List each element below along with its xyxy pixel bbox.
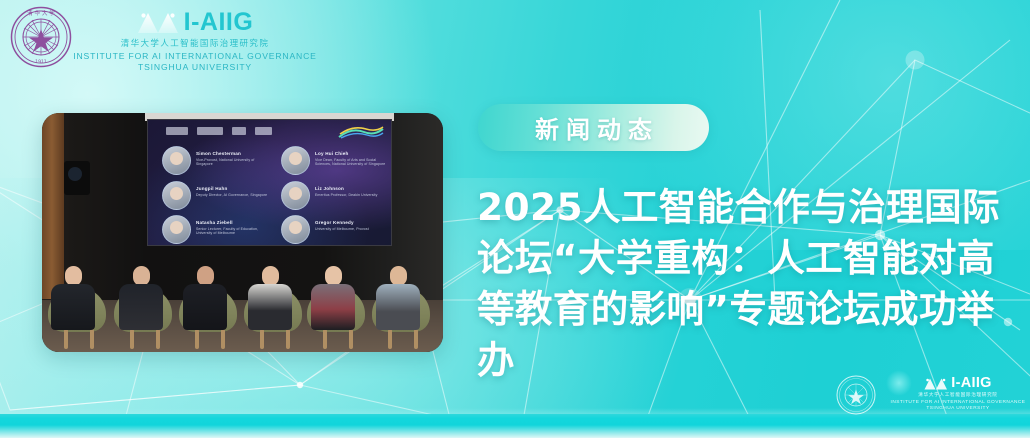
iaiig-logo-english-line1: INSTITUTE FOR AI INTERNATIONAL GOVERNANC… — [70, 51, 320, 61]
tsinghua-seal-icon: 清 华 大 学 1911 — [10, 6, 72, 68]
iaiig-wordmark: I-AIIG — [184, 11, 254, 34]
photo-panelist — [375, 266, 421, 330]
photo-panelist — [182, 266, 228, 330]
photo-panelist — [310, 266, 356, 330]
footer-iaiig-logo: I-AIIG 清华大学人工智能国际治理研究院 INSTITUTE FOR AI … — [836, 372, 1026, 420]
slide-speaker-title: Emeritus Professor, Deakin University — [315, 193, 387, 197]
slide-speaker-title: Deputy Director, AI Governance, Singapor… — [196, 193, 268, 197]
banner-header: 清 华 大 学 1911 I-AIIG — [0, 0, 1030, 72]
iaiig-logo-english-line2: TSINGHUA UNIVERSITY — [70, 62, 320, 72]
slide-speaker-title: University of Melbourne, Provost — [315, 227, 387, 231]
photo-panelist — [118, 266, 164, 330]
footer-logo-english-line2: TSINGHUA UNIVERSITY — [890, 406, 1026, 411]
footer-mountain-mark-icon — [924, 377, 948, 390]
news-category-label: 新闻动态 — [528, 110, 659, 145]
slide-speaker-title: Vice Dean, Faculty of Arts and Social Sc… — [315, 158, 387, 167]
photo-projection-screen: Simon Chesterman Vice-Provost, National … — [147, 119, 392, 246]
slide-speaker-name: Jungpil Hahn — [196, 186, 228, 191]
photo-panelist — [50, 266, 96, 330]
slide-speaker-title: Vice-Provost, National University of Sin… — [196, 158, 268, 167]
slide-speaker-name: Loy Hui Chieh — [315, 151, 348, 156]
slide-speaker-name: Gregor Kennedy — [315, 220, 354, 225]
news-category-badge[interactable]: 新闻动态 — [478, 104, 709, 151]
iaiig-mountain-mark-icon — [137, 11, 179, 34]
footer-logo-chinese: 清华大学人工智能国际治理研究院 — [890, 392, 1026, 398]
iaiig-logo: I-AIIG 清华大学人工智能国际治理研究院 INSTITUTE FOR AI … — [70, 8, 320, 72]
page-title: 2025人工智能合作与治理国际论坛“大学重构：人工智能对高等教育的影响”专题论坛… — [477, 182, 1025, 386]
svg-text:1911: 1911 — [35, 59, 47, 65]
slide-partner-logos — [166, 127, 272, 135]
slide-speaker-name: Simon Chesterman — [196, 151, 241, 156]
news-banner: 清 华 大 学 1911 I-AIIG — [0, 0, 1030, 438]
svg-text:清 华 大 学: 清 华 大 学 — [27, 9, 55, 17]
slide-swoosh-icon — [338, 126, 384, 139]
slide-speaker-title: Senior Lecturer, Faculty of Education, U… — [196, 227, 268, 236]
footer-wordmark: I-AIIG — [951, 377, 991, 390]
footer-tsinghua-seal-icon — [836, 375, 876, 415]
slide-speaker-name: Natasha Ziebell — [196, 220, 233, 225]
iaiig-logo-chinese: 清华大学人工智能国际治理研究院 — [70, 37, 320, 49]
slide-speaker-name: Liz Johnson — [315, 186, 344, 191]
event-photo: Simon Chesterman Vice-Provost, National … — [42, 113, 443, 352]
photo-panelist — [247, 266, 293, 330]
photo-loudspeaker — [64, 161, 90, 195]
footer-logo-english-line1: INSTITUTE FOR AI INTERNATIONAL GOVERNANC… — [890, 400, 1026, 405]
